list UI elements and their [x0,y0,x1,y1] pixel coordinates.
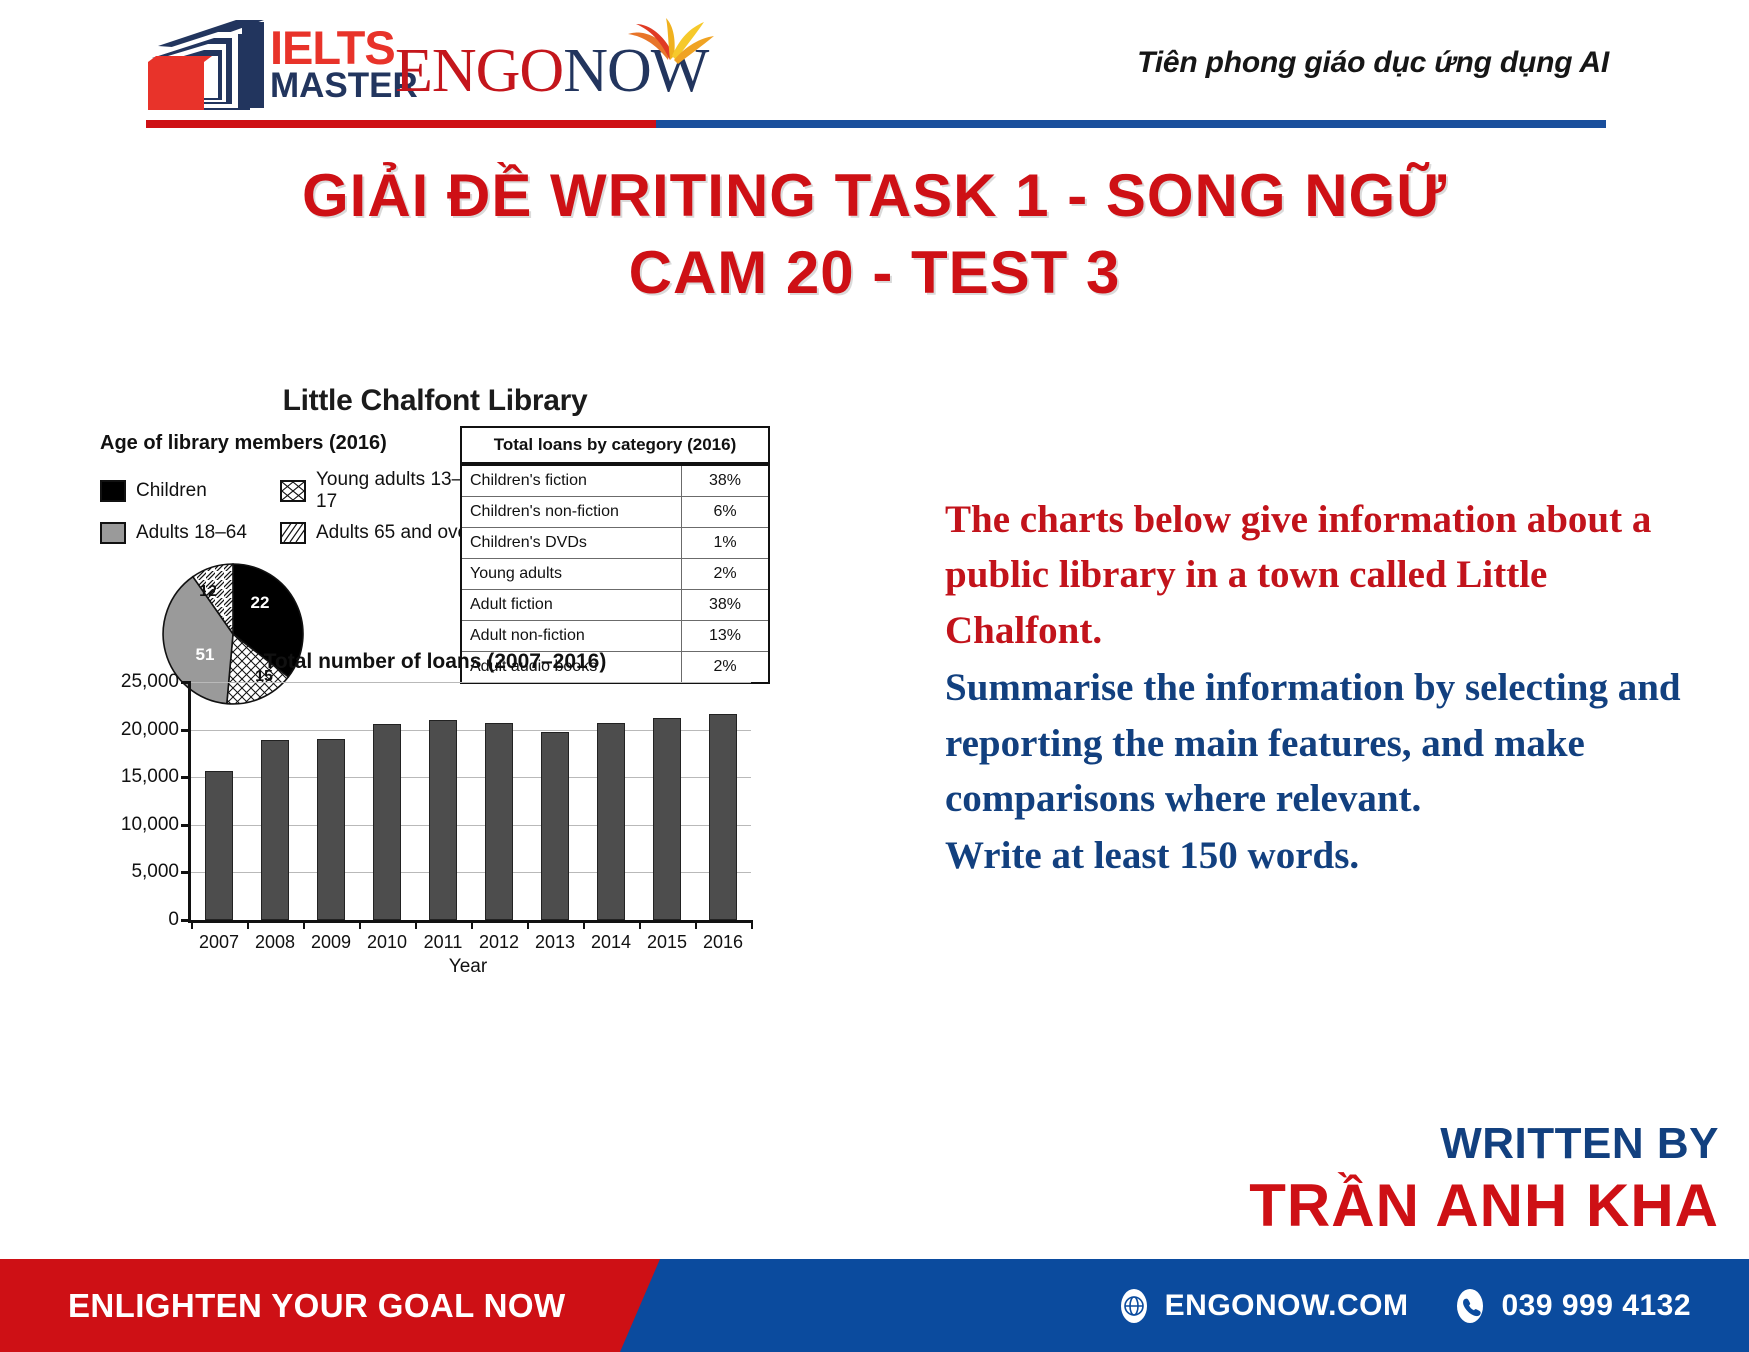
footer-phone-text: 039 999 4132 [1501,1289,1691,1323]
bar-chart-y-tick-label: 10,000 [121,814,179,836]
bar-chart-x-tick-label: 2011 [424,932,463,953]
exam-figure: Little Chalfont Library Age of library m… [60,378,810,1008]
bar-chart-bar [373,724,401,920]
legend-item-adults-18-64: Adults 18–64 [100,522,280,544]
table-row: Young adults 2% [461,559,769,590]
phone-icon [1452,1288,1488,1324]
bar-chart-x-tick-mark [359,920,361,929]
bar-chart-x-tick-label: 2013 [535,932,575,953]
pie-chart-title: Age of library members (2016) [100,432,510,455]
bar-chart-y-tick-mark [181,871,191,874]
table-cell-category: Children's fiction [461,465,682,497]
legend-swatch-adults-65-over-icon [280,522,306,544]
bar-chart-x-tick-mark [695,920,697,929]
table-cell-category: Adult non-fiction [461,621,682,652]
page-title: GIẢI ĐỀ WRITING TASK 1 - SONG NGỮ CAM 20… [0,158,1749,312]
svg-text:22: 22 [251,593,270,612]
prompt-word-count: Write at least 150 words. [945,828,1705,883]
footer-phone[interactable]: 039 999 4132 [1452,1288,1691,1324]
bar-chart-x-tick-mark [303,920,305,929]
bar-chart-y-tick-label: 20,000 [121,719,179,741]
table-row: Children's DVDs 1% [461,528,769,559]
author-name: TRẦN ANH KHA [1249,1172,1719,1239]
figure-main-title: Little Chalfont Library [60,384,810,418]
bar-chart-bar [205,771,233,920]
bar-chart-y-tick-label: 25,000 [121,671,179,693]
footer-website[interactable]: ENGONOW.COM [1116,1288,1409,1324]
table-cell-value: 38% [682,590,770,621]
open-book-icon [624,16,716,73]
bar-chart-bar [653,718,681,920]
loans-table-caption: Total loans by category (2016) [460,426,770,464]
bar-chart-bar [261,740,289,920]
page-header: IELTS MASTER ENGO NOW Tiên phong giáo dụ… [0,0,1749,142]
bar-chart-bar [541,732,569,920]
rule-red-segment [146,120,656,128]
rule-blue-segment [656,120,1606,128]
bar-chart-gridline [191,682,751,683]
credit-block: WRITTEN BY TRẦN ANH KHA [1249,1120,1719,1240]
bar-chart-x-tick-mark [751,920,753,929]
loans-by-category-table: Total loans by category (2016) Children'… [460,426,770,684]
bar-chart-bar [597,723,625,920]
bar-chart-bar [317,739,345,920]
bar-chart-x-tick-mark [527,920,529,929]
table-row: Children's fiction 38% [461,465,769,497]
bar-chart-x-tick-mark [247,920,249,929]
bar-chart-x-tick-label: 2014 [591,932,631,953]
table-cell-category: Young adults [461,559,682,590]
loans-table-panel: Total loans by category (2016) Children'… [460,426,780,684]
legend-swatch-young-adults-icon [280,480,306,502]
legend-label-adults-18-64: Adults 18–64 [136,522,247,544]
engonow-engo-text: ENGO [395,40,563,102]
legend-swatch-adults-18-64-icon [100,522,126,544]
bar-chart-x-tick-label: 2008 [255,932,295,953]
bar-chart-x-tick-label: 2010 [367,932,407,953]
bar-chart-plot-area: 05,00010,00015,00020,00025,0002007200820… [188,682,751,923]
bar-chart-x-tick-label: 2007 [199,932,239,953]
table-cell-value: 6% [682,497,770,528]
bar-chart-y-tick-mark [181,681,191,684]
legend-item-adults-65-over: Adults 65 and over [280,522,480,544]
bar-chart-panel: Total number of loans (2007–2016) 05,000… [60,650,810,1000]
bar-chart-bar [709,714,737,920]
header-divider-rule [146,120,1606,128]
header-tagline: Tiên phong giáo dục ứng dụng AI [1137,46,1609,80]
legend-label-young-adults: Young adults 13–17 [316,469,480,513]
prompt-blue-paragraph: Summarise the information by selecting a… [945,660,1705,826]
title-line-2: CAM 20 - TEST 3 [0,235,1749,312]
table-cell-value: 13% [682,621,770,652]
svg-text:12: 12 [199,583,217,600]
table-row: Children's non-fiction 6% [461,497,769,528]
bar-chart-x-tick-label: 2015 [647,932,687,953]
task-prompt: The charts below give information about … [945,492,1705,884]
bar-chart-y-tick-mark [181,824,191,827]
bar-chart-x-tick-mark [415,920,417,929]
table-cell-value: 2% [682,559,770,590]
page-footer: ENLIGHTEN YOUR GOAL NOW ENGONOW.COM [0,1259,1749,1352]
bar-chart-y-tick-label: 0 [168,909,179,931]
footer-website-text: ENGONOW.COM [1165,1289,1409,1323]
table-cell-category: Children's DVDs [461,528,682,559]
bar-chart-y-tick-mark [181,729,191,732]
bar-chart-x-tick-label: 2009 [311,932,351,953]
legend-label-adults-65-over: Adults 65 and over [316,522,474,544]
pie-legend: Children Young adults 13–17 [100,469,510,544]
footer-contact-group: ENGONOW.COM 039 999 4132 [1116,1259,1691,1352]
bar-chart-x-tick-mark [471,920,473,929]
bar-chart-y-tick-mark [181,776,191,779]
ielts-master-logo-mark [146,16,264,112]
legend-swatch-children-icon [100,480,126,502]
ielts-master-logo: IELTS MASTER [146,14,418,114]
bar-chart-x-tick-label: 2012 [479,932,519,953]
globe-icon [1116,1288,1152,1324]
bar-chart-bar [485,723,513,920]
bar-chart-x-tick-label: 2016 [703,932,743,953]
table-row: Adult non-fiction 13% [461,621,769,652]
bar-chart-x-tick-mark [191,920,193,929]
legend-item-young-adults: Young adults 13–17 [280,469,480,513]
written-by-label: WRITTEN BY [1249,1120,1719,1168]
legend-item-children: Children [100,469,280,513]
engonow-logo: ENGO NOW [395,22,708,102]
prompt-red-paragraph: The charts below give information about … [945,492,1705,658]
bar-chart-bar [429,720,457,920]
table-row: Adult fiction 38% [461,590,769,621]
bar-chart-y-tick-label: 15,000 [121,766,179,788]
bar-chart-y-tick-label: 5,000 [131,861,179,883]
table-cell-value: 1% [682,528,770,559]
title-line-1: GIẢI ĐỀ WRITING TASK 1 - SONG NGỮ [0,158,1749,235]
table-cell-category: Children's non-fiction [461,497,682,528]
bar-chart-y-tick-mark [181,919,191,922]
legend-label-children: Children [136,480,207,502]
table-cell-value: 38% [682,465,770,497]
table-cell-category: Adult fiction [461,590,682,621]
footer-slogan: ENLIGHTEN YOUR GOAL NOW [68,1259,566,1352]
bar-chart-x-tick-mark [639,920,641,929]
bar-chart-x-axis-title: Year [188,956,748,978]
bar-chart-x-tick-mark [583,920,585,929]
